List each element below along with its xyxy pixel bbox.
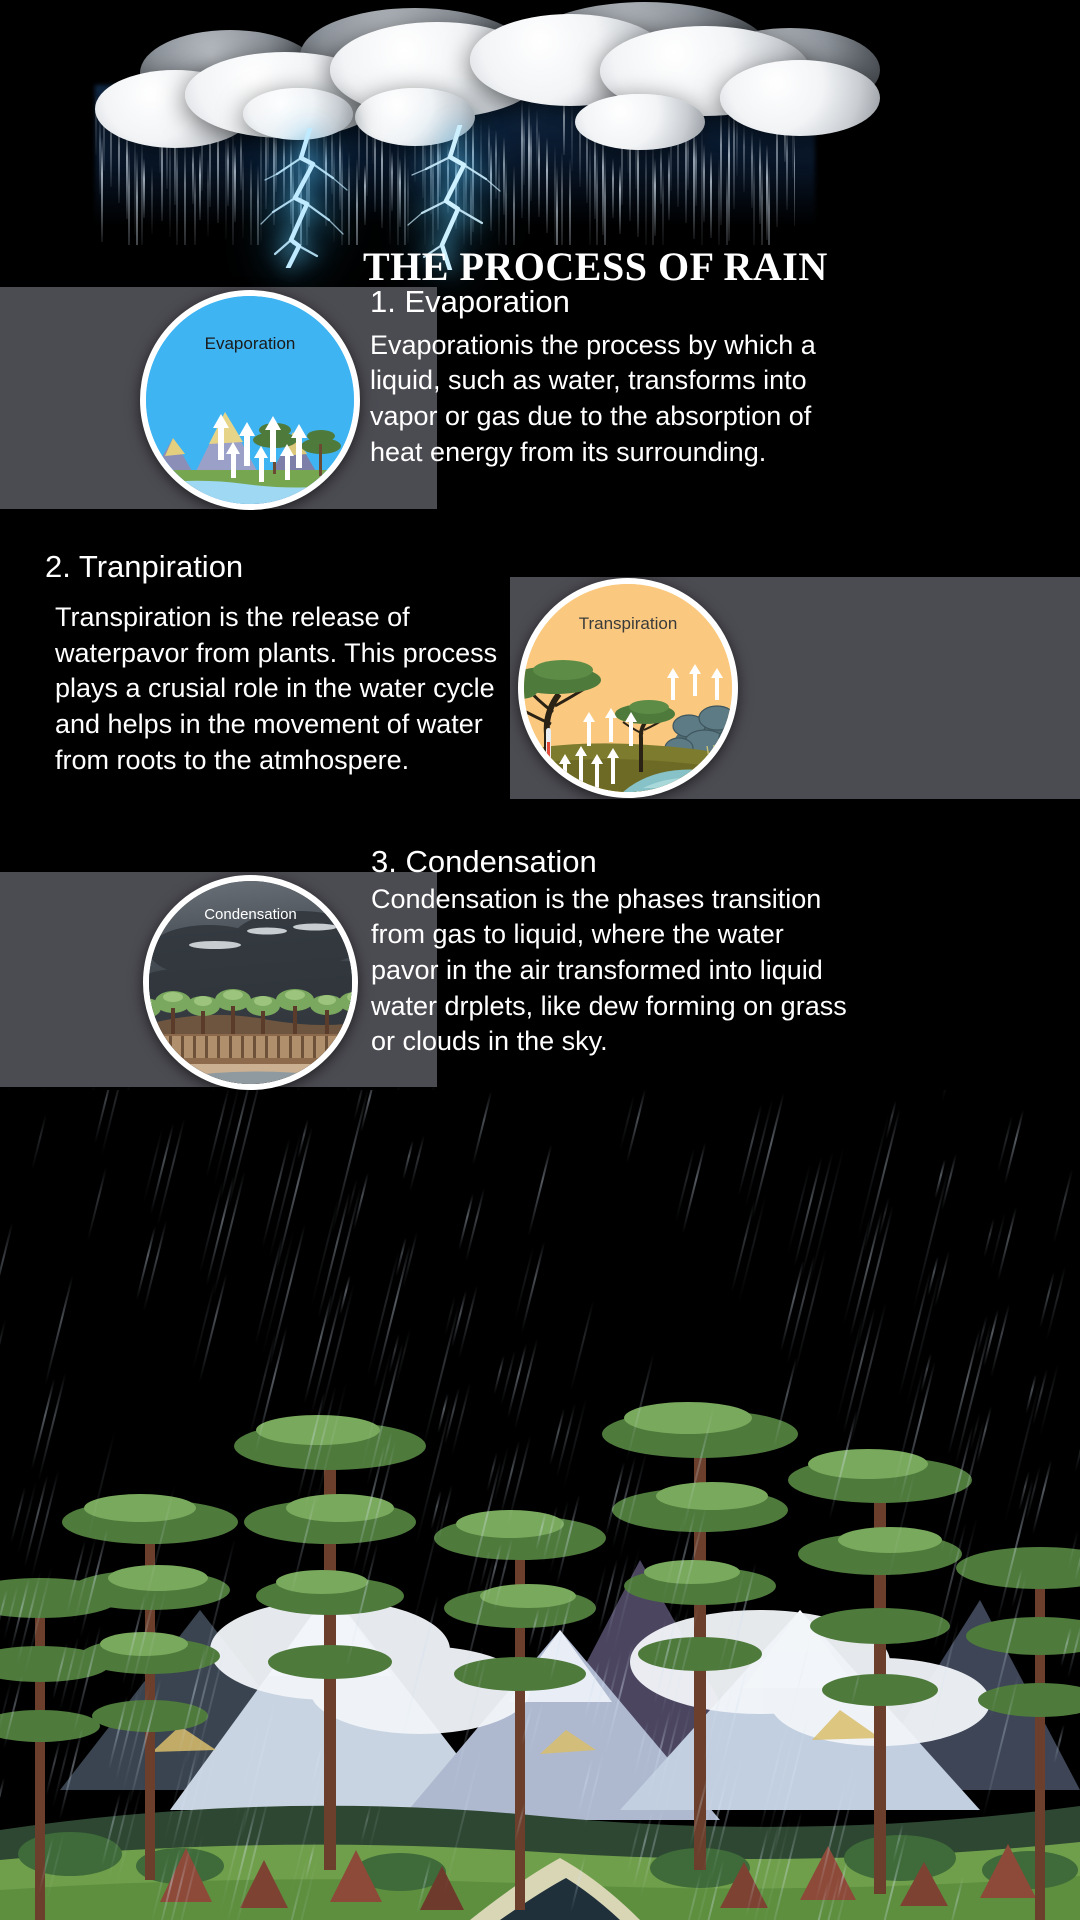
storm-cloud-white [720, 60, 880, 136]
condensation-caption: Condensation [149, 906, 352, 923]
section-heading: 2. Tranpiration [45, 550, 565, 585]
evaporation-scene-art [140, 384, 360, 504]
forest-scene-art [0, 1090, 1080, 1920]
section-transpiration-heading-wrap: 2. Tranpiration [45, 550, 565, 585]
section-transpiration-body-wrap: Transpiration is the release of waterpav… [55, 600, 525, 778]
section-condensation: 3. Condensation Condensation is the phas… [371, 845, 851, 1060]
page-title: THE PROCESS OF RAIN [363, 243, 1023, 290]
transpiration-illustration: Transpiration [518, 578, 738, 798]
condensation-illustration: Condensation [143, 875, 358, 1090]
condensation-scene-art [143, 974, 358, 1084]
section-body: Evaporationis the process by which a liq… [370, 328, 840, 471]
section-body: Condensation is the phases transition fr… [371, 882, 851, 1060]
section-body: Transpiration is the release of waterpav… [55, 600, 525, 778]
section-heading: 1. Evaporation [370, 285, 840, 320]
transpiration-caption: Transpiration [524, 614, 732, 634]
infographic-poster: (function(){ var c=document.currentScrip… [0, 0, 1080, 1920]
transpiration-scene-art [518, 642, 738, 792]
storm-cloud-white [575, 94, 705, 150]
rainy-pine-forest-mountain-scene: (function(){ var c=document.currentScrip… [0, 1090, 1080, 1920]
section-evaporation: 1. Evaporation Evaporationis the process… [370, 285, 840, 470]
evaporation-illustration: Evaporation [140, 290, 360, 510]
section-heading: 3. Condensation [371, 845, 851, 880]
lightning-bolt-icon [255, 128, 365, 268]
evaporation-caption: Evaporation [146, 334, 354, 354]
